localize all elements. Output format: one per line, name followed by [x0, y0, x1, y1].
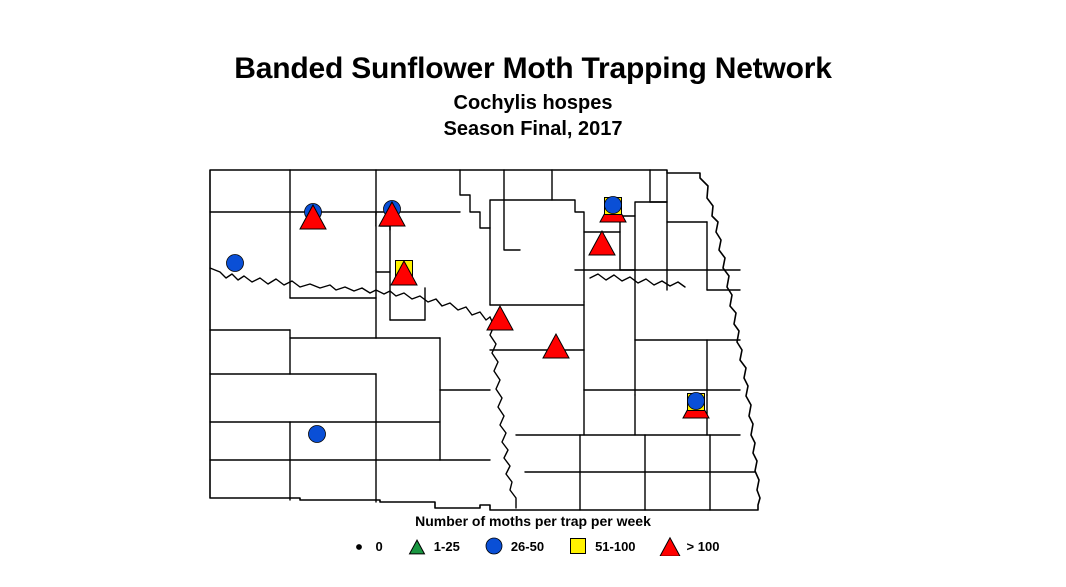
marker-circle: [309, 426, 326, 443]
legend-item: 26-50: [482, 536, 544, 556]
page-title: Banded Sunflower Moth Trapping Network: [0, 52, 1066, 86]
map-container[interactable]: [180, 160, 770, 512]
legend: Number of moths per trap per week 01-252…: [0, 512, 1066, 556]
legend-item-label: 0: [376, 539, 383, 554]
legend-items: 01-2526-5051-100> 100: [0, 536, 1066, 556]
blue-circle-icon: [482, 536, 506, 556]
legend-item-label: 1-25: [434, 539, 460, 554]
marker-circle: [688, 393, 705, 410]
legend-title: Number of moths per trap per week: [0, 512, 1066, 530]
period-subtitle: Season Final, 2017: [0, 116, 1066, 142]
marker-circle: [605, 197, 622, 214]
black-dot-icon: [347, 536, 371, 556]
legend-item: 51-100: [566, 536, 635, 556]
legend-item: 0: [347, 536, 383, 556]
marker-triangle: [409, 540, 424, 554]
legend-item: 1-25: [405, 536, 460, 556]
county-boundaries: [210, 170, 760, 510]
green-triangle-icon: [405, 536, 429, 556]
marker-circle: [486, 538, 502, 554]
yellow-square-icon: [566, 536, 590, 556]
title-block: Banded Sunflower Moth Trapping Network C…: [0, 52, 1066, 142]
legend-item-label: > 100: [687, 539, 720, 554]
legend-item-label: 26-50: [511, 539, 544, 554]
marker-triangle: [660, 538, 680, 556]
north-dakota-county-map[interactable]: [180, 160, 770, 512]
legend-item: > 100: [658, 536, 720, 556]
marker-circle: [356, 545, 361, 550]
red-triangle-icon: [658, 536, 682, 556]
map-page: Banded Sunflower Moth Trapping Network C…: [0, 0, 1066, 587]
species-subtitle: Cochylis hospes: [0, 90, 1066, 116]
marker-circle: [227, 255, 244, 272]
marker-square: [571, 539, 586, 554]
trap-site-marker[interactable]: [227, 255, 244, 272]
legend-item-label: 51-100: [595, 539, 635, 554]
trap-site-marker[interactable]: [309, 426, 326, 443]
